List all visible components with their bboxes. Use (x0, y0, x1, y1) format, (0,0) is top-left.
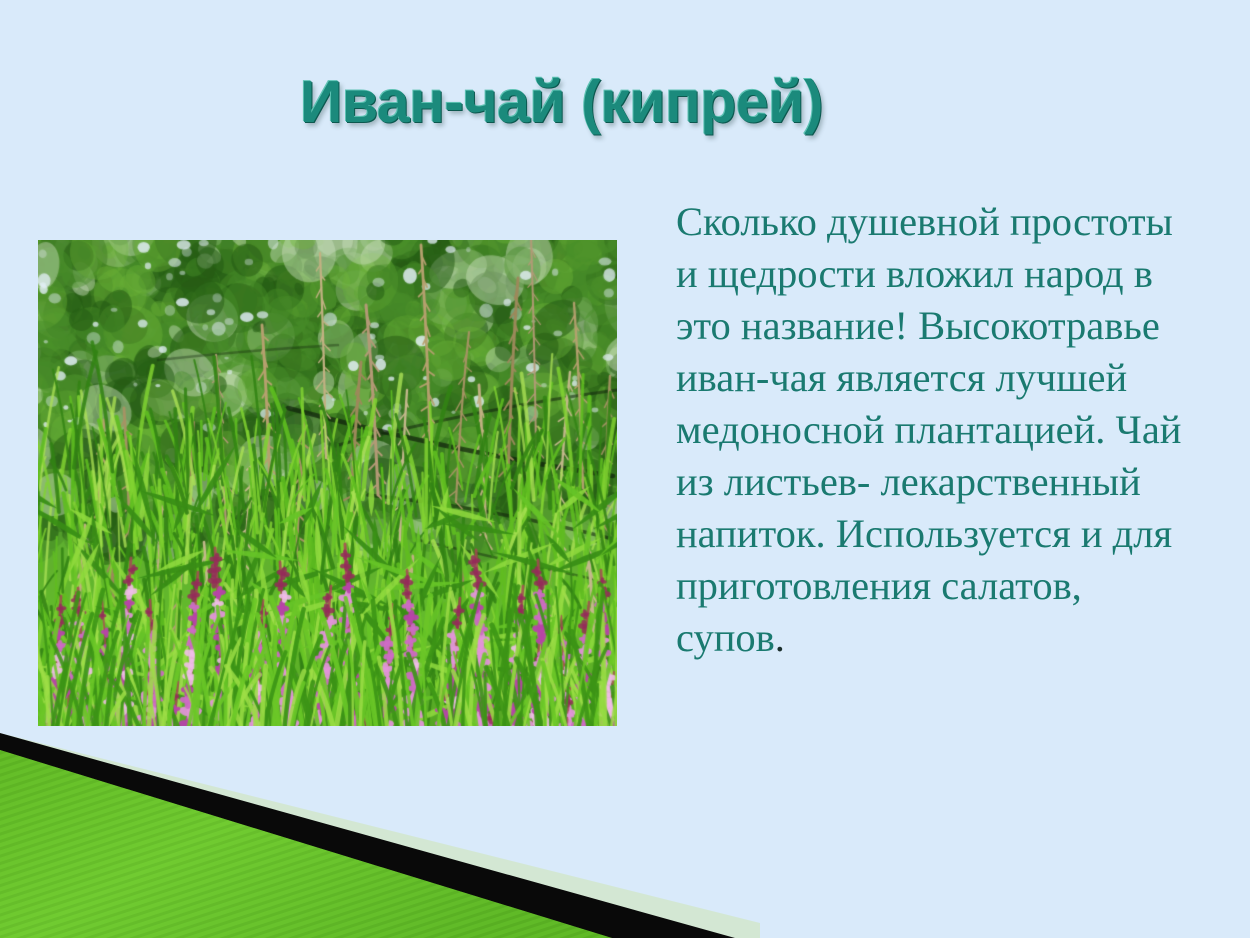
band-black (0, 733, 735, 938)
band-green (0, 750, 612, 938)
page-title: Иван-чай (кипрей) (300, 72, 1000, 134)
band-mint (0, 733, 760, 938)
body-paragraph: Сколько душевной простоты и щедрости вло… (676, 196, 1196, 664)
body-paragraph-final-period: . (775, 615, 785, 660)
body-paragraph-text: Сколько душевной простоты и щедрости вло… (676, 199, 1181, 660)
fireweed-photo (38, 240, 617, 726)
band-green-texture (0, 750, 612, 938)
fireweed-photo-canvas (38, 240, 617, 726)
slide-canvas: Иван-чай (кипрей) Сколько душевной прост… (0, 0, 1250, 938)
